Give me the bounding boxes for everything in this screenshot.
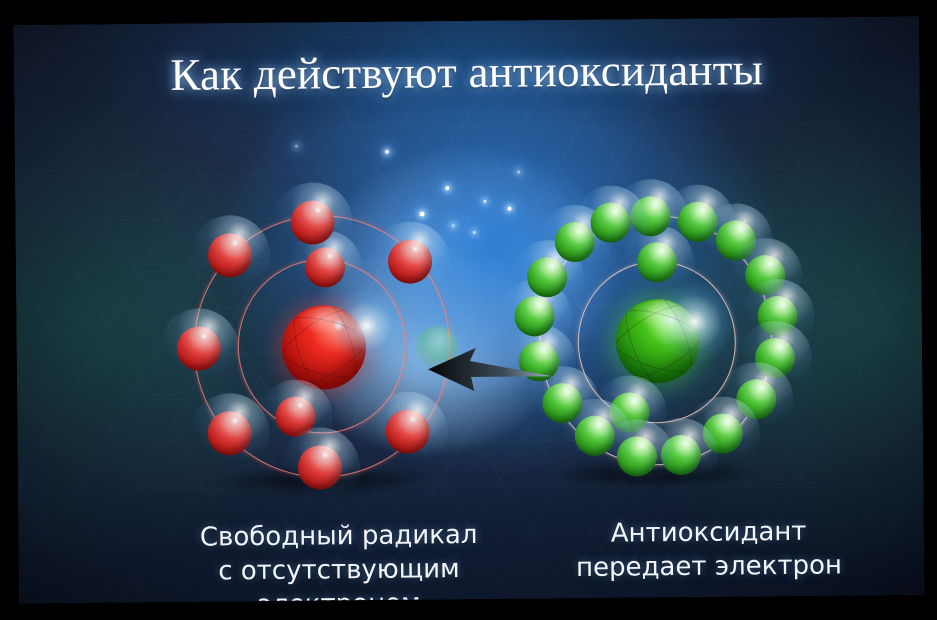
caption-line: электроном	[139, 586, 539, 603]
caption-line: Антиоксидант	[523, 515, 893, 552]
sparkle-icon	[517, 171, 520, 174]
electron	[757, 296, 797, 336]
electron	[387, 239, 431, 283]
electron	[297, 445, 341, 489]
electron	[702, 413, 742, 453]
electron	[715, 220, 755, 260]
page-title: Как действуют антиоксиданты	[14, 45, 919, 101]
electron	[677, 202, 717, 242]
electron	[630, 196, 670, 236]
poster-canvas: Как действуют антиоксиданты Свободный ра…	[0, 0, 937, 620]
electron	[290, 200, 334, 244]
caption-line: с отсутствующим	[138, 552, 538, 590]
electron	[636, 242, 676, 282]
sparkle-icon	[294, 145, 297, 148]
caption-line: Свободный радикал	[138, 518, 538, 556]
nucleus-gloss	[617, 300, 698, 381]
nucleus	[615, 299, 700, 384]
image-plate: Как действуют антиоксиданты Свободный ра…	[13, 17, 924, 604]
electron	[590, 202, 630, 242]
caption-antioxidant: Антиоксидант передает электрон	[523, 515, 894, 586]
electron	[574, 416, 614, 456]
electron	[609, 392, 649, 432]
nucleus	[281, 305, 366, 390]
caption-line: передает электрон	[523, 549, 893, 586]
electron	[275, 396, 315, 436]
electron	[736, 379, 776, 419]
electron-transfer-arrow	[401, 330, 562, 412]
sparkle-icon	[472, 231, 475, 234]
electron	[526, 257, 566, 297]
sparkle-icon	[384, 150, 388, 154]
electron	[616, 436, 656, 476]
electron	[385, 409, 429, 453]
sparkle-icon	[483, 200, 486, 203]
electron	[744, 255, 784, 295]
electron	[660, 435, 700, 475]
electron	[176, 326, 220, 370]
electron	[207, 411, 251, 455]
nucleus-gloss	[283, 307, 364, 388]
electron	[304, 247, 344, 287]
electron	[754, 338, 794, 378]
electron	[554, 222, 594, 262]
sparkle-icon	[445, 186, 449, 190]
caption-free-radical: Свободный радикал с отсутствующим электр…	[138, 518, 539, 603]
electron	[207, 233, 251, 277]
